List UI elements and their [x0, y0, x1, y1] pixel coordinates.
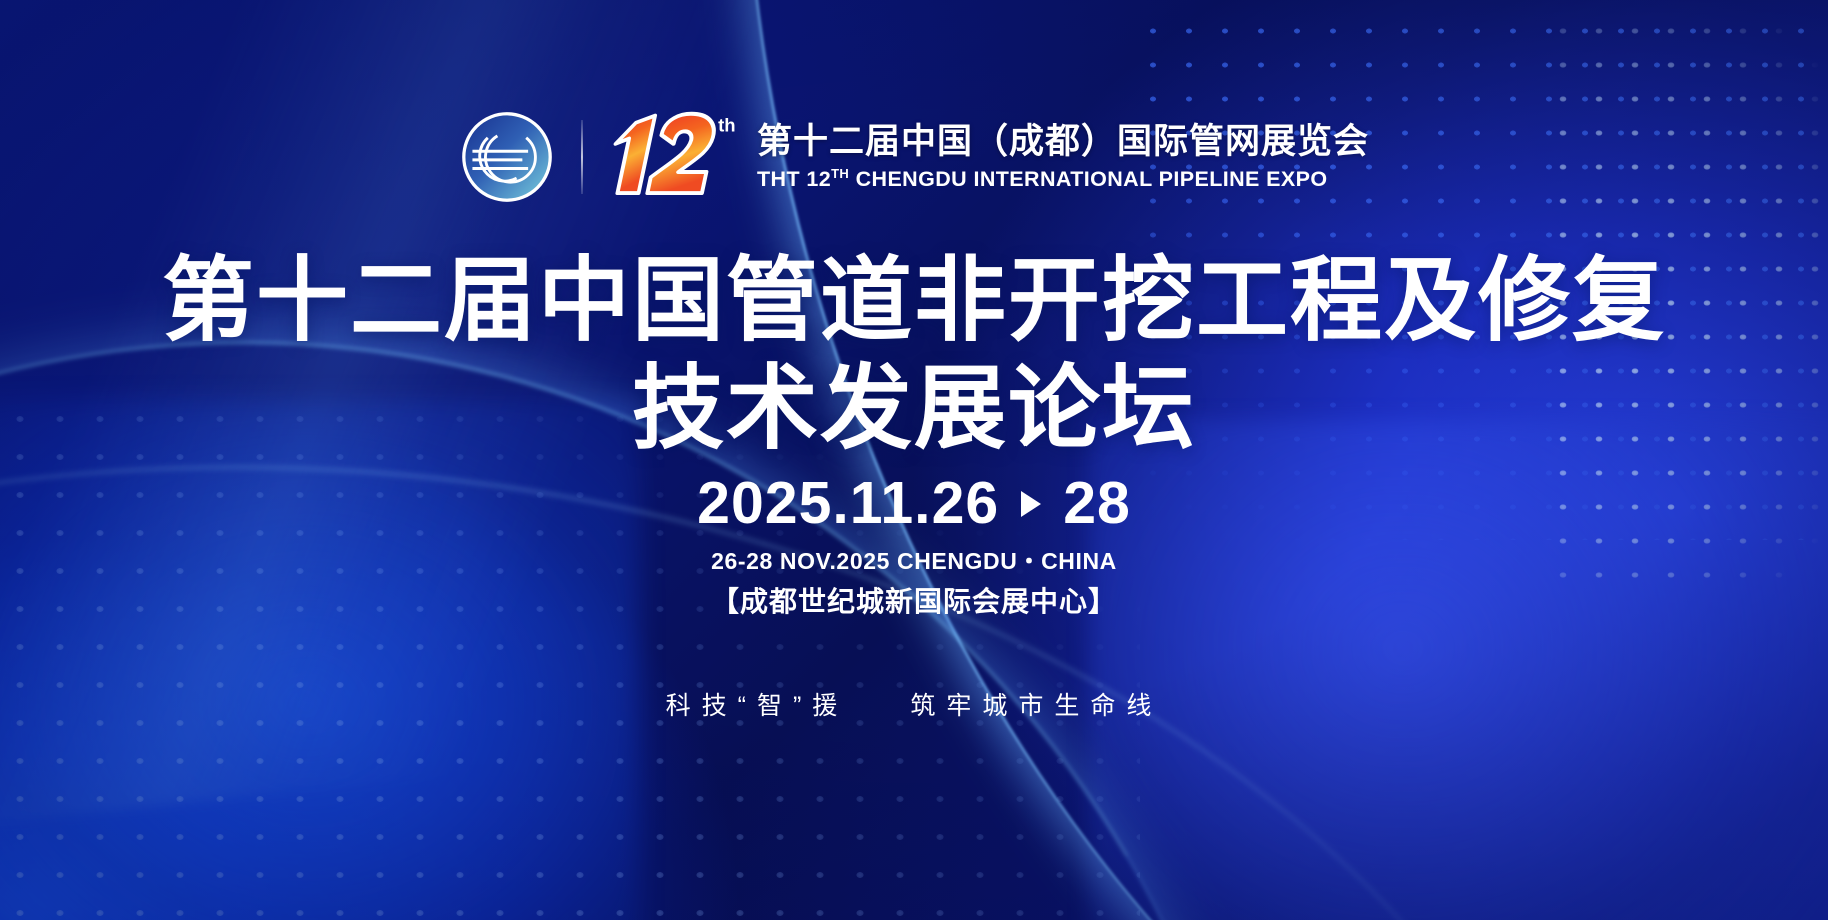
event-date: 2025.11.26 28 [0, 474, 1828, 533]
event-slogan-part-1: 科技“智”援 [666, 686, 849, 722]
pipeline-circle-emblem-icon [459, 109, 555, 205]
forum-title-line-1: 第十二届中国管道非开挖工程及修复 [0, 248, 1828, 356]
lockup-divider [581, 120, 583, 194]
expo-title-en: THT 12TH CHENGDU INTERNATIONAL PIPELINE … [757, 167, 1369, 192]
event-slogan: 科技“智”援 筑牢城市生命线 [0, 686, 1828, 722]
event-venue: 【成都世纪城新国际会展中心】 [0, 580, 1828, 620]
header-lockup: th 第十二届中国（成都）国际管网展览会 THT 12TH CHENGDU IN… [0, 108, 1828, 206]
expo-title-cn: 第十二届中国（成都）国际管网展览会 [757, 122, 1369, 161]
event-date-english: 26-28 NOV.2025 CHENGDU・CHINA [0, 542, 1828, 576]
expo-title-en-ordinal: TH [831, 166, 849, 181]
expo-banner: th 第十二届中国（成都）国际管网展览会 THT 12TH CHENGDU IN… [0, 0, 1828, 920]
svg-text:th: th [718, 114, 735, 135]
expo-title-en-post: CHENGDU INTERNATIONAL PIPELINE EXPO [849, 167, 1327, 191]
expo-title-en-pre: THT 12 [757, 167, 831, 191]
edition-number-graphic: th [609, 108, 741, 206]
event-date-end: 28 [1063, 474, 1131, 533]
header-text-block: 第十二届中国（成都）国际管网展览会 THT 12TH CHENGDU INTER… [757, 122, 1369, 192]
forum-title-line-2: 技术发展论坛 [0, 356, 1828, 464]
forum-title: 第十二届中国管道非开挖工程及修复 技术发展论坛 [0, 248, 1828, 463]
event-slogan-part-2: 筑牢城市生命线 [910, 686, 1162, 722]
event-date-start: 2025.11.26 [697, 474, 999, 533]
play-triangle-icon [1021, 491, 1041, 517]
